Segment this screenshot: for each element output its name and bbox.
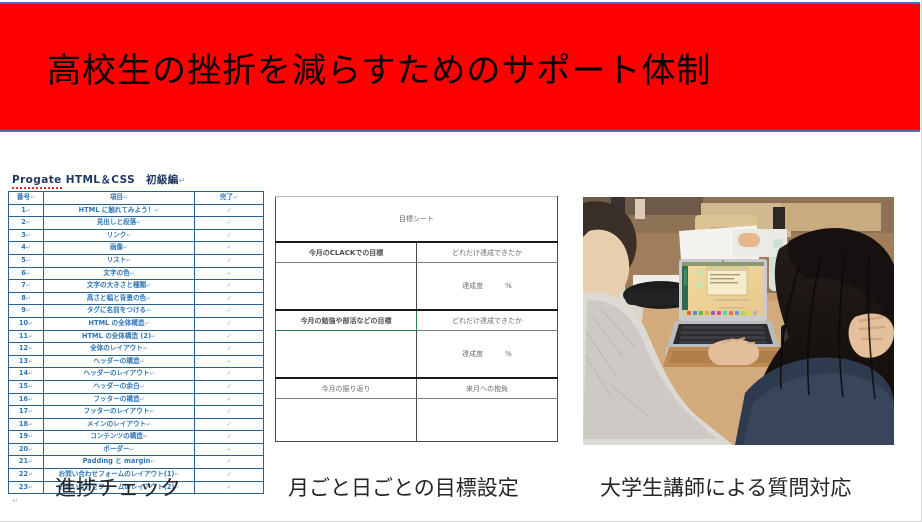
goal-section-1-left-label: 今月のCLACKでの目標: [276, 242, 417, 263]
cell-completion-check[interactable]: ✓: [195, 418, 264, 431]
table-row: 6↵文字の色↵✓: [9, 267, 264, 280]
goal-section-label-row-2: 今月の勉強や部活などの目標 どれだけ達成できたか: [276, 310, 558, 331]
cell-lesson-title: メインのレイアウト↵: [44, 418, 195, 431]
cell-completion-check[interactable]: ✓: [195, 456, 264, 469]
table-row: 14↵ヘッダーのレイアウト↵✓: [9, 368, 264, 381]
cell-row-number: 7↵: [9, 280, 44, 293]
goal-section-value-row-2: 達成度%: [276, 331, 558, 379]
column-header-no: 番号↵: [9, 192, 44, 205]
cell-lesson-title: ヘッダーの余白↵: [44, 380, 195, 393]
table-row: 18↵メインのレイアウト↵✓: [9, 418, 264, 431]
progress-check-panel: Progate HTML＆CSS 初級編↵ 番号↵ 項目↵ 完了↵ 1↵HTML…: [8, 172, 270, 505]
table-row: 15↵ヘッダーの余白↵✓: [9, 380, 264, 393]
goal-section-1-right-label: どれだけ達成できたか: [417, 242, 558, 263]
cell-row-number: 21↵: [9, 456, 44, 469]
column-header-item: 項目↵: [44, 192, 195, 205]
table-row: 13↵ヘッダーの構造↵✓: [9, 355, 264, 368]
progress-table: 番号↵ 項目↵ 完了↵ 1↵HTML に触れてみよう！↵✓2↵見出しと段落↵✓3…: [8, 191, 264, 494]
cell-lesson-title: フッターの構造↵: [44, 393, 195, 406]
cell-row-number: 2↵: [9, 217, 44, 230]
cell-lesson-title: Padding と margin↵: [44, 456, 195, 469]
cell-row-number: 19↵: [9, 431, 44, 444]
goal-footer-left-value[interactable]: [276, 399, 417, 442]
page-title: 高校生の挫折を減らすためのサポート体制: [47, 51, 711, 91]
cell-completion-check[interactable]: ✓: [195, 305, 264, 318]
table-row: 2↵見出しと段落↵✓: [9, 217, 264, 230]
goal-section-2-left-value[interactable]: [276, 331, 417, 379]
table-row: 4↵画像↵✓: [9, 242, 264, 255]
pilcrow-mark: ↵: [179, 176, 186, 185]
cell-lesson-title: 文字の大きさと種類↵: [44, 280, 195, 293]
goal-section-2-left-label[interactable]: 今月の勉強や部活などの目標: [276, 310, 417, 331]
goal-section-1-rate-label: 達成度: [462, 282, 483, 290]
goal-heading-row: 目標シート: [276, 197, 558, 243]
cell-lesson-title: HTML に触れてみよう！↵: [44, 204, 195, 217]
goal-section-2-achievement[interactable]: 達成度%: [417, 331, 558, 379]
goal-section-2-rate-unit: %: [505, 350, 512, 358]
goal-footer-right-label: 来月への抱負: [417, 378, 558, 399]
goal-section-label-row-1: 今月のCLACKでの目標 どれだけ達成できたか: [276, 242, 558, 263]
cell-completion-check[interactable]: ✓: [195, 229, 264, 242]
table-row: 3↵リンク↵✓: [9, 229, 264, 242]
cell-lesson-title: コンテンツの構造↵: [44, 431, 195, 444]
goal-section-2-right-label: どれだけ達成できたか: [417, 310, 558, 331]
cell-row-number: 6↵: [9, 267, 44, 280]
cell-row-number: 9↵: [9, 305, 44, 318]
cell-lesson-title: タグに名前をつける↵: [44, 305, 195, 318]
cell-row-number: 15↵: [9, 380, 44, 393]
cell-lesson-title: HTML の全体構造↵: [44, 317, 195, 330]
goal-footer-value-row: [276, 399, 558, 442]
cell-completion-check[interactable]: ✓: [195, 443, 264, 456]
cell-lesson-title: フッターのレイアウト↵: [44, 406, 195, 419]
table-row: 9↵タグに名前をつける↵✓: [9, 305, 264, 318]
cell-row-number: 12↵: [9, 343, 44, 356]
cell-row-number: 13↵: [9, 355, 44, 368]
table-row: 7↵文字の大きさと種類↵✓: [9, 280, 264, 293]
goal-footer-label-row: 今月の振り返り 来月への抱負: [276, 378, 558, 399]
cell-completion-check[interactable]: ✓: [195, 393, 264, 406]
cell-completion-check[interactable]: ✓: [195, 267, 264, 280]
goal-section-2-rate-label: 達成度: [462, 350, 483, 358]
cell-row-number: 1↵: [9, 204, 44, 217]
cell-lesson-title: 見出しと段落↵: [44, 217, 195, 230]
cell-completion-check[interactable]: ✓: [195, 254, 264, 267]
progress-sheet-title-brand: Progate: [12, 174, 62, 189]
cell-completion-check[interactable]: ✓: [195, 317, 264, 330]
cell-lesson-title: ボーダー↵: [44, 443, 195, 456]
cell-row-number: 16↵: [9, 393, 44, 406]
cell-lesson-title: 画像↵: [44, 242, 195, 255]
cell-completion-check[interactable]: ✓: [195, 204, 264, 217]
table-row: 20↵ボーダー↵✓: [9, 443, 264, 456]
cell-completion-check[interactable]: ✓: [195, 330, 264, 343]
goal-footer-right-value[interactable]: [417, 399, 558, 442]
table-row: 10↵HTML の全体構造↵✓: [9, 317, 264, 330]
cell-row-number: 22↵: [9, 469, 44, 482]
goal-sheet-heading: 目標シート: [276, 197, 558, 243]
table-row: 8↵高さと幅と背景の色↵✓: [9, 292, 264, 305]
cell-row-number: 5↵: [9, 254, 44, 267]
cell-row-number: 10↵: [9, 317, 44, 330]
goal-section-1-achievement[interactable]: 達成度%: [417, 263, 558, 311]
caption-progress-check: 進捗チェック: [55, 472, 181, 502]
title-banner: 高校生の挫折を減らすためのサポート体制: [0, 2, 920, 132]
cell-row-number: 11↵: [9, 330, 44, 343]
cell-row-number: 3↵: [9, 229, 44, 242]
cell-completion-check[interactable]: ✓: [195, 217, 264, 230]
progress-sheet-title: Progate HTML＆CSS 初級編↵: [12, 172, 270, 187]
progress-table-body: 1↵HTML に触れてみよう！↵✓2↵見出しと段落↵✓3↵リンク↵✓4↵画像↵✓…: [9, 204, 264, 494]
cell-lesson-title: 高さと幅と背景の色↵: [44, 292, 195, 305]
cell-completion-check[interactable]: ✓: [195, 431, 264, 444]
table-row: 1↵HTML に触れてみよう！↵✓: [9, 204, 264, 217]
cell-lesson-title: 文字の色↵: [44, 267, 195, 280]
cell-lesson-title: リンク↵: [44, 229, 195, 242]
goal-section-1-rate-unit: %: [505, 282, 512, 290]
cell-row-number: 23↵: [9, 481, 44, 494]
cell-completion-check[interactable]: ✓: [195, 343, 264, 356]
cell-row-number: 8↵: [9, 292, 44, 305]
tutoring-photo: [583, 197, 894, 445]
cell-row-number: 4↵: [9, 242, 44, 255]
column-header-done: 完了↵: [195, 192, 264, 205]
cell-completion-check[interactable]: ✓: [195, 368, 264, 381]
table-header-row: 番号↵ 項目↵ 完了↵: [9, 192, 264, 205]
table-row: 19↵コンテンツの構造↵✓: [9, 431, 264, 444]
tutoring-photo-image: [583, 197, 894, 445]
cell-completion-check[interactable]: ✓: [195, 242, 264, 255]
caption-goal-setting: 月ごと日ごとの目標設定: [288, 472, 519, 502]
cell-lesson-title: 全体のレイアウト↵: [44, 343, 195, 356]
cell-completion-check[interactable]: ✓: [195, 469, 264, 482]
cell-completion-check[interactable]: ✓: [195, 380, 264, 393]
cell-completion-check[interactable]: ✓: [195, 481, 264, 494]
cell-completion-check[interactable]: ✓: [195, 280, 264, 293]
progress-sheet-title-rest: HTML＆CSS 初級編: [62, 174, 179, 186]
cell-row-number: 17↵: [9, 406, 44, 419]
goal-sheet-panel: 目標シート 今月のCLACKでの目標 どれだけ達成できたか 達成度% 今月の勉強…: [275, 196, 558, 445]
cell-row-number: 14↵: [9, 368, 44, 381]
goal-sheet-table: 目標シート 今月のCLACKでの目標 どれだけ達成できたか 達成度% 今月の勉強…: [275, 196, 558, 442]
cell-completion-check[interactable]: ✓: [195, 292, 264, 305]
table-row: 5↵リスト↵✓: [9, 254, 264, 267]
cell-lesson-title: リスト↵: [44, 254, 195, 267]
cell-row-number: 18↵: [9, 418, 44, 431]
slide: 高校生の挫折を減らすためのサポート体制 Progate HTML＆CSS 初級編…: [0, 0, 922, 522]
table-row: 16↵フッターの構造↵✓: [9, 393, 264, 406]
cell-row-number: 20↵: [9, 443, 44, 456]
caption-question-support: 大学生講師による質問対応: [600, 472, 851, 502]
table-row: 21↵Padding と margin↵✓: [9, 456, 264, 469]
goal-section-1-left-value[interactable]: [276, 263, 417, 311]
cell-lesson-title: ヘッダーのレイアウト↵: [44, 368, 195, 381]
cell-lesson-title: HTML の全体構造 (2)↵: [44, 330, 195, 343]
table-row: 12↵全体のレイアウト↵✓: [9, 343, 264, 356]
cell-completion-check[interactable]: ✓: [195, 406, 264, 419]
table-row: 11↵HTML の全体構造 (2)↵✓: [9, 330, 264, 343]
goal-footer-left-label: 今月の振り返り: [276, 378, 417, 399]
table-row: 17↵フッターのレイアウト↵✓: [9, 406, 264, 419]
cell-lesson-title: ヘッダーの構造↵: [44, 355, 195, 368]
goal-section-value-row-1: 達成度%: [276, 263, 558, 311]
cell-completion-check[interactable]: ✓: [195, 355, 264, 368]
